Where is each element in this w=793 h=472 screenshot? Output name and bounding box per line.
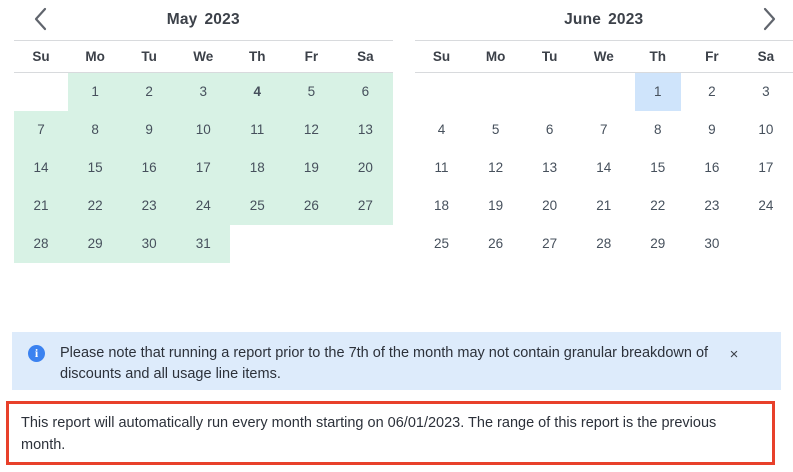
calendar-day[interactable]: 20 <box>338 149 392 187</box>
right-calendar-body: 1234567891011121314151617181920212223242… <box>415 73 793 263</box>
calendar-week-row: 11121314151617 <box>415 149 793 187</box>
calendar-day[interactable]: 17 <box>739 149 793 187</box>
weekday-fr: Fr <box>685 41 739 73</box>
calendar-week-row: 28293031 <box>14 225 393 263</box>
calendar-day[interactable]: 5 <box>469 111 523 149</box>
close-icon[interactable]: × <box>725 345 743 363</box>
calendar-week-row: 123456 <box>14 73 393 111</box>
calendar-day[interactable]: 19 <box>469 187 523 225</box>
calendar-day-empty <box>284 225 338 263</box>
right-calendar-year: 2023 <box>608 11 643 28</box>
calendar-day[interactable]: 21 <box>14 187 68 225</box>
calendar-day[interactable]: 20 <box>523 187 577 225</box>
calendar-day-empty <box>230 225 284 263</box>
right-calendar-header: June2023 <box>415 0 793 40</box>
right-calendar-month: June <box>564 11 601 28</box>
calendar-pair: May2023 Su Mo Tu We Th Fr Sa 12345678910… <box>0 0 793 263</box>
calendar-day-empty <box>338 225 392 263</box>
right-calendar-title: June2023 <box>564 11 643 29</box>
calendar-day[interactable]: 23 <box>122 187 176 225</box>
calendar-day-empty <box>739 225 793 263</box>
date-range-picker: May2023 Su Mo Tu We Th Fr Sa 12345678910… <box>0 0 793 472</box>
calendar-day[interactable]: 10 <box>739 111 793 149</box>
calendar-week-row: 252627282930 <box>415 225 793 263</box>
calendar-week-row: 14151617181920 <box>14 149 393 187</box>
calendar-day[interactable]: 17 <box>176 149 230 187</box>
calendar-day[interactable]: 12 <box>469 149 523 187</box>
calendar-day[interactable]: 5 <box>284 73 338 111</box>
calendar-day[interactable]: 25 <box>415 225 469 263</box>
weekday-fr: Fr <box>284 41 338 73</box>
calendar-week-row: 18192021222324 <box>415 187 793 225</box>
calendar-day[interactable]: 21 <box>577 187 631 225</box>
calendar-day[interactable]: 4 <box>230 73 284 111</box>
calendar-day[interactable]: 13 <box>523 149 577 187</box>
left-calendar-grid: Su Mo Tu We Th Fr Sa 1234567891011121314… <box>14 40 393 263</box>
left-calendar-month: May <box>167 11 198 28</box>
calendar-day[interactable]: 15 <box>631 149 685 187</box>
calendar-day[interactable]: 3 <box>739 73 793 111</box>
calendar-day[interactable]: 1 <box>68 73 122 111</box>
weekday-we: We <box>577 41 631 73</box>
calendar-day[interactable]: 1 <box>631 73 685 111</box>
weekday-header-row: Su Mo Tu We Th Fr Sa <box>14 41 393 73</box>
calendar-day[interactable]: 6 <box>338 73 392 111</box>
calendar-day[interactable]: 29 <box>68 225 122 263</box>
calendar-day[interactable]: 29 <box>631 225 685 263</box>
calendar-day[interactable]: 7 <box>577 111 631 149</box>
calendar-day[interactable]: 15 <box>68 149 122 187</box>
calendar-day[interactable]: 2 <box>685 73 739 111</box>
left-calendar-header: May2023 <box>14 0 393 40</box>
weekday-we: We <box>176 41 230 73</box>
left-calendar: May2023 Su Mo Tu We Th Fr Sa 12345678910… <box>14 0 393 263</box>
calendar-day[interactable]: 11 <box>230 111 284 149</box>
calendar-day-label: 1 <box>654 84 662 99</box>
info-circle-icon: i <box>28 345 45 362</box>
left-calendar-body: 1234567891011121314151617181920212223242… <box>14 73 393 263</box>
calendar-day[interactable]: 19 <box>284 149 338 187</box>
calendar-day[interactable]: 3 <box>176 73 230 111</box>
schedule-note-box: This report will automatically run every… <box>6 401 775 465</box>
chevron-right-icon <box>762 7 777 31</box>
calendar-day-empty <box>415 73 469 111</box>
calendar-day[interactable]: 7 <box>14 111 68 149</box>
calendar-day-empty <box>577 73 631 111</box>
calendar-day[interactable]: 18 <box>415 187 469 225</box>
calendar-day[interactable]: 2 <box>122 73 176 111</box>
calendar-day[interactable]: 23 <box>685 187 739 225</box>
weekday-su: Su <box>14 41 68 73</box>
calendar-day[interactable]: 27 <box>523 225 577 263</box>
right-calendar: June2023 Su Mo Tu We Th Fr <box>415 0 793 263</box>
calendar-day[interactable]: 11 <box>415 149 469 187</box>
calendar-day[interactable]: 16 <box>685 149 739 187</box>
calendar-day-empty <box>469 73 523 111</box>
weekday-sa: Sa <box>739 41 793 73</box>
weekday-mo: Mo <box>68 41 122 73</box>
calendar-day-empty <box>523 73 577 111</box>
schedule-note-text: This report will automatically run every… <box>21 412 760 456</box>
weekday-th: Th <box>631 41 685 73</box>
weekday-mo: Mo <box>469 41 523 73</box>
calendar-day[interactable]: 28 <box>577 225 631 263</box>
weekday-sa: Sa <box>338 41 392 73</box>
info-banner: i Please note that running a report prio… <box>12 332 781 390</box>
calendar-day[interactable]: 8 <box>68 111 122 149</box>
chevron-left-icon <box>33 7 48 31</box>
calendar-day[interactable]: 9 <box>122 111 176 149</box>
calendar-day[interactable]: 8 <box>631 111 685 149</box>
calendar-week-row: 21222324252627 <box>14 187 393 225</box>
calendar-day[interactable]: 26 <box>284 187 338 225</box>
right-calendar-grid: Su Mo Tu We Th Fr Sa 1234567891011121314… <box>415 40 793 263</box>
info-banner-message: Please note that running a report prior … <box>60 343 725 385</box>
weekday-su: Su <box>415 41 469 73</box>
weekday-header-row: Su Mo Tu We Th Fr Sa <box>415 41 793 73</box>
calendar-day[interactable]: 25 <box>230 187 284 225</box>
calendar-day[interactable]: 6 <box>523 111 577 149</box>
calendar-day[interactable]: 9 <box>685 111 739 149</box>
calendar-day[interactable]: 24 <box>739 187 793 225</box>
calendar-day-empty <box>14 73 68 111</box>
weekday-tu: Tu <box>523 41 577 73</box>
calendar-day[interactable]: 12 <box>284 111 338 149</box>
calendar-day[interactable]: 16 <box>122 149 176 187</box>
calendar-week-row: 45678910 <box>415 111 793 149</box>
calendar-day[interactable]: 10 <box>176 111 230 149</box>
left-calendar-year: 2023 <box>204 11 239 28</box>
calendar-day[interactable]: 30 <box>122 225 176 263</box>
weekday-th: Th <box>230 41 284 73</box>
calendar-day[interactable]: 18 <box>230 149 284 187</box>
prev-month-button[interactable] <box>23 2 57 36</box>
calendar-day[interactable]: 13 <box>338 111 392 149</box>
left-calendar-title: May2023 <box>167 11 240 29</box>
calendar-day[interactable]: 14 <box>577 149 631 187</box>
next-month-button[interactable] <box>752 2 786 36</box>
calendar-day[interactable]: 22 <box>68 187 122 225</box>
calendar-day[interactable]: 4 <box>415 111 469 149</box>
calendar-day[interactable]: 28 <box>14 225 68 263</box>
calendar-day[interactable]: 22 <box>631 187 685 225</box>
calendar-week-row: 123 <box>415 73 793 111</box>
weekday-tu: Tu <box>122 41 176 73</box>
calendar-day[interactable]: 26 <box>469 225 523 263</box>
calendar-day[interactable]: 30 <box>685 225 739 263</box>
calendar-day[interactable]: 24 <box>176 187 230 225</box>
calendar-week-row: 78910111213 <box>14 111 393 149</box>
calendar-day[interactable]: 31 <box>176 225 230 263</box>
calendar-day[interactable]: 27 <box>338 187 392 225</box>
calendar-day[interactable]: 14 <box>14 149 68 187</box>
